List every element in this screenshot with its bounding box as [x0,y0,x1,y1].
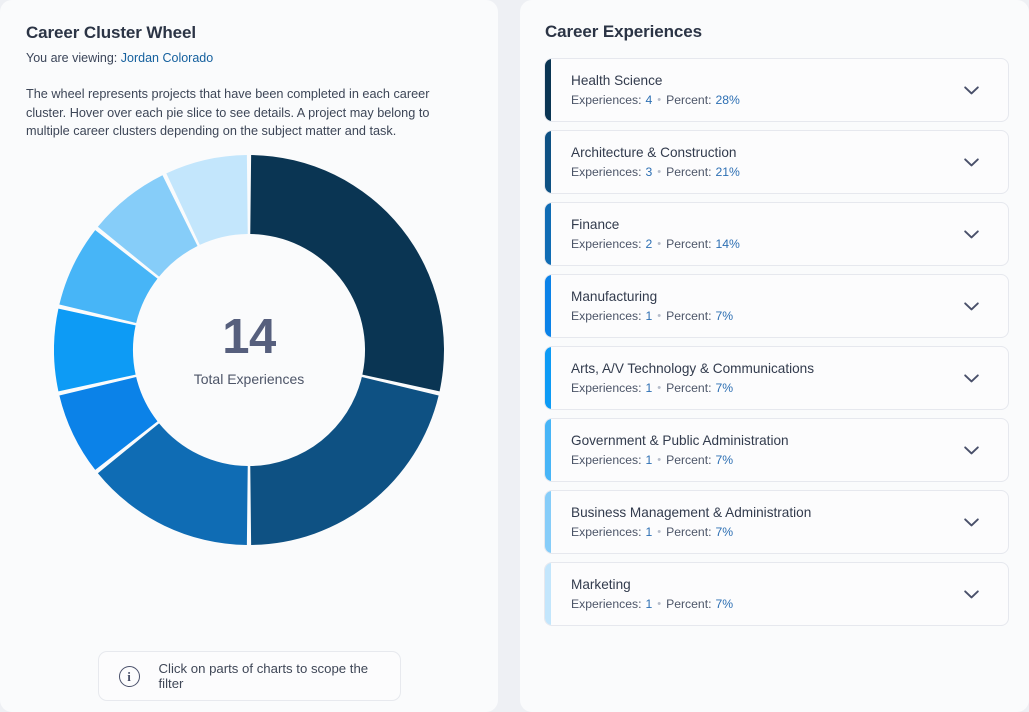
career-cluster-page: Career Cluster Wheel You are viewing: Jo… [0,0,1029,712]
donut-chart-container: 14 Total Experiences [26,141,472,652]
experience-card[interactable]: ManufacturingExperiences:1•Percent:7% [544,274,1009,338]
career-experiences-list: Health ScienceExperiences:4•Percent:28%A… [544,58,1009,626]
viewing-student-link[interactable]: Jordan Colorado [121,51,213,65]
donut-slice[interactable] [250,377,438,545]
percent-value: 14% [715,236,739,252]
stat-separator: • [657,308,661,324]
career-experiences-panel: Career Experiences Health ScienceExperie… [520,0,1029,712]
percent-label: Percent: [666,236,711,252]
card-stats: Experiences:1•Percent:7% [571,452,960,468]
card-body: MarketingExperiences:1•Percent:7% [571,576,960,612]
card-cluster-name: Finance [571,216,960,234]
card-stats: Experiences:1•Percent:7% [571,380,960,396]
card-stats: Experiences:2•Percent:14% [571,236,960,252]
career-cluster-wheel-panel: Career Cluster Wheel You are viewing: Jo… [0,0,498,712]
card-stats: Experiences:1•Percent:7% [571,308,960,324]
percent-label: Percent: [666,92,711,108]
percent-value: 21% [715,164,739,180]
chevron-down-icon[interactable] [960,223,982,245]
experience-card[interactable]: Business Management & AdministrationExpe… [544,490,1009,554]
card-stats: Experiences:1•Percent:7% [571,596,960,612]
experience-card[interactable]: Government & Public AdministrationExperi… [544,418,1009,482]
chevron-down-icon[interactable] [960,151,982,173]
percent-value: 7% [715,380,733,396]
card-body: Arts, A/V Technology & CommunicationsExp… [571,360,960,396]
percent-value: 7% [715,308,733,324]
chevron-down-icon[interactable] [960,79,982,101]
experiences-label: Experiences: [571,380,641,396]
experiences-count: 1 [645,524,652,540]
card-stats: Experiences:4•Percent:28% [571,92,960,108]
card-color-bar [545,59,551,121]
chevron-down-icon[interactable] [960,439,982,461]
card-body: ManufacturingExperiences:1•Percent:7% [571,288,960,324]
info-pill-row: i Click on parts of charts to scope the … [26,651,472,712]
experience-card[interactable]: Architecture & ConstructionExperiences:3… [544,130,1009,194]
experiences-count: 1 [645,596,652,612]
page-title: Career Cluster Wheel [26,22,472,44]
card-body: FinanceExperiences:2•Percent:14% [571,216,960,252]
percent-label: Percent: [666,164,711,180]
experience-card[interactable]: Health ScienceExperiences:4•Percent:28% [544,58,1009,122]
stat-separator: • [657,92,661,108]
info-circle-icon: i [119,666,140,687]
viewing-prefix: You are viewing: [26,51,117,65]
card-body: Business Management & AdministrationExpe… [571,504,960,540]
card-stats: Experiences:1•Percent:7% [571,524,960,540]
viewing-line: You are viewing: Jordan Colorado [26,50,472,66]
percent-value: 7% [715,452,733,468]
stat-separator: • [657,236,661,252]
experiences-label: Experiences: [571,308,641,324]
experiences-label: Experiences: [571,452,641,468]
percent-label: Percent: [666,596,711,612]
card-cluster-name: Health Science [571,72,960,90]
donut-slice[interactable] [250,155,444,391]
percent-label: Percent: [666,452,711,468]
stat-separator: • [657,380,661,396]
percent-value: 28% [715,92,739,108]
experiences-count: 3 [645,164,652,180]
card-color-bar [545,275,551,337]
stat-separator: • [657,596,661,612]
card-stats: Experiences:3•Percent:21% [571,164,960,180]
experience-card[interactable]: Arts, A/V Technology & CommunicationsExp… [544,346,1009,410]
experiences-count: 2 [645,236,652,252]
card-color-bar [545,131,551,193]
card-color-bar [545,491,551,553]
experience-card[interactable]: FinanceExperiences:2•Percent:14% [544,202,1009,266]
percent-label: Percent: [666,308,711,324]
experiences-count: 1 [645,380,652,396]
card-color-bar [545,203,551,265]
experiences-label: Experiences: [571,92,641,108]
percent-label: Percent: [666,380,711,396]
experiences-label: Experiences: [571,596,641,612]
percent-label: Percent: [666,524,711,540]
stat-separator: • [657,452,661,468]
card-cluster-name: Arts, A/V Technology & Communications [571,360,960,378]
card-color-bar [545,563,551,625]
chevron-down-icon[interactable] [960,511,982,533]
experiences-count: 1 [645,308,652,324]
experiences-count: 4 [645,92,652,108]
experiences-count: 1 [645,452,652,468]
card-color-bar [545,419,551,481]
wheel-description: The wheel represents projects that have … [26,85,446,141]
stat-separator: • [657,164,661,180]
filter-hint-text: Click on parts of charts to scope the fi… [159,661,380,691]
card-body: Architecture & ConstructionExperiences:3… [571,144,960,180]
experience-card[interactable]: MarketingExperiences:1•Percent:7% [544,562,1009,626]
card-body: Health ScienceExperiences:4•Percent:28% [571,72,960,108]
career-cluster-donut[interactable]: 14 Total Experiences [54,155,444,545]
card-cluster-name: Architecture & Construction [571,144,960,162]
stat-separator: • [657,524,661,540]
experiences-label: Experiences: [571,236,641,252]
chevron-down-icon[interactable] [960,367,982,389]
card-cluster-name: Marketing [571,576,960,594]
career-experiences-title: Career Experiences [544,22,1009,42]
card-cluster-name: Government & Public Administration [571,432,960,450]
chevron-down-icon[interactable] [960,583,982,605]
filter-hint-pill[interactable]: i Click on parts of charts to scope the … [98,651,401,701]
percent-value: 7% [715,524,733,540]
card-body: Government & Public AdministrationExperi… [571,432,960,468]
experiences-label: Experiences: [571,164,641,180]
card-cluster-name: Business Management & Administration [571,504,960,522]
chevron-down-icon[interactable] [960,295,982,317]
donut-chart-svg[interactable] [54,155,444,545]
experiences-label: Experiences: [571,524,641,540]
percent-value: 7% [715,596,733,612]
card-color-bar [545,347,551,409]
card-cluster-name: Manufacturing [571,288,960,306]
donut-slice[interactable] [54,308,136,391]
